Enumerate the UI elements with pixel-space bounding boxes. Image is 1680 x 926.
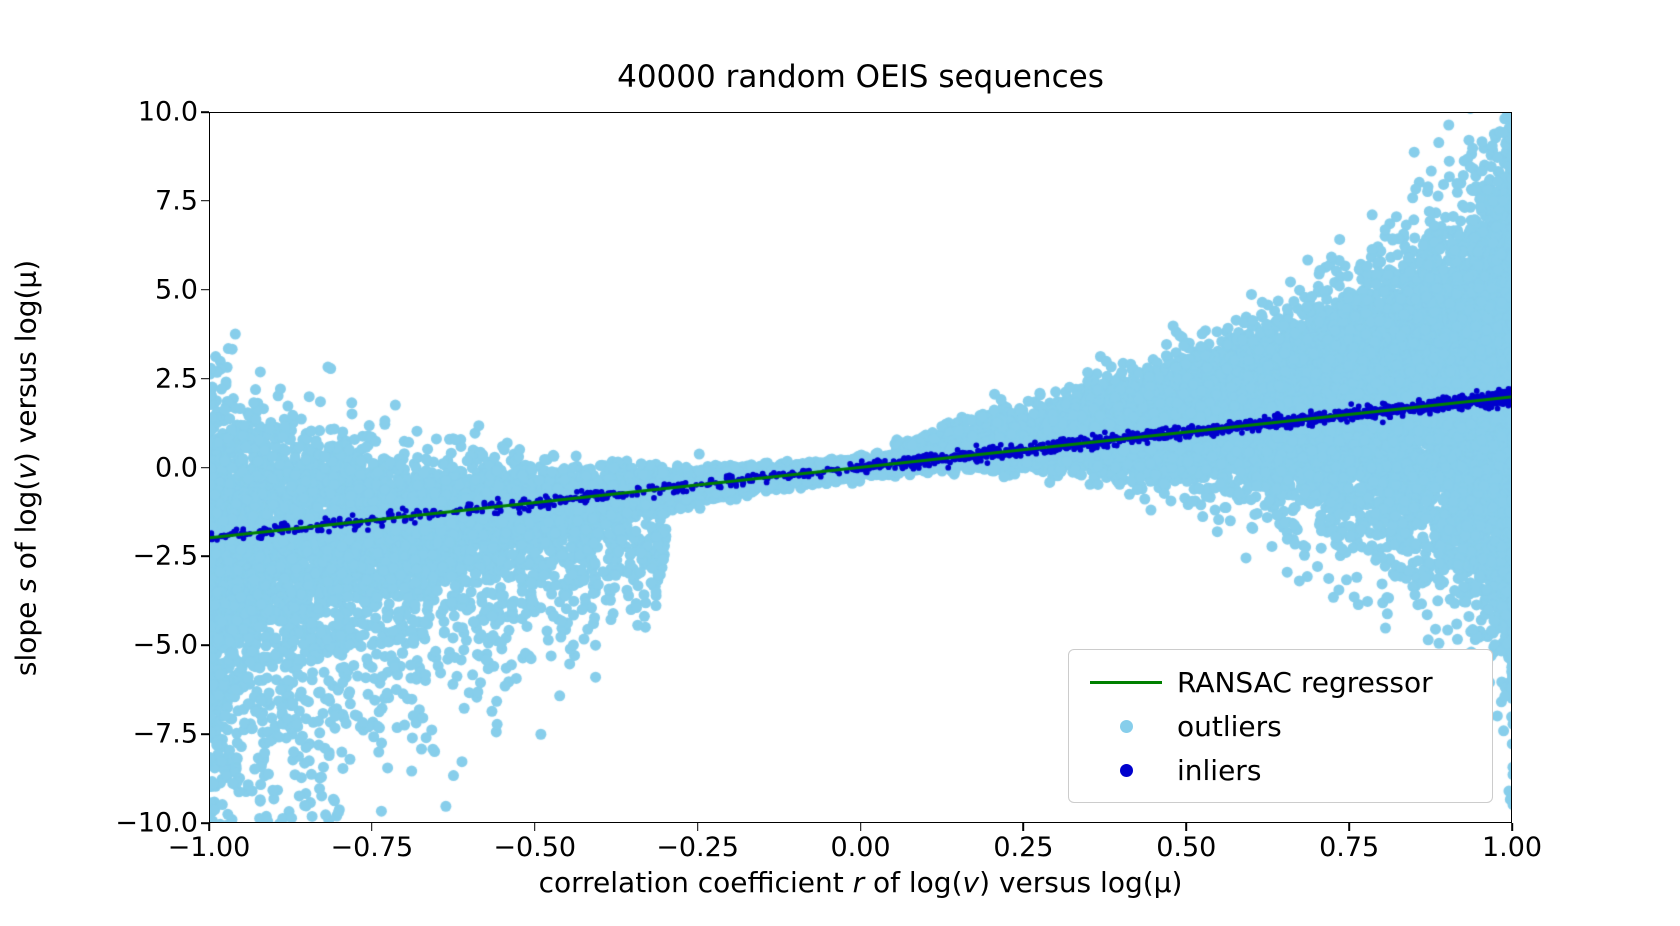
y-tick-mark xyxy=(201,644,209,646)
legend-dot-swatch xyxy=(1083,764,1169,777)
x-tick-mark xyxy=(697,823,699,831)
legend-dot-swatch xyxy=(1083,720,1169,733)
y-tick-mark xyxy=(201,111,209,113)
dot-marker-icon xyxy=(1120,720,1133,733)
legend-label: outliers xyxy=(1169,710,1282,743)
x-tick-mark xyxy=(1511,823,1513,831)
x-tick-mark xyxy=(1348,823,1350,831)
x-tick-mark xyxy=(1185,823,1187,831)
legend-line-swatch xyxy=(1083,681,1169,684)
matplotlib-figure: 40000 random OEIS sequences slope s of l… xyxy=(0,0,1680,926)
legend-label: inliers xyxy=(1169,754,1261,787)
legend-label: RANSAC regressor xyxy=(1169,666,1433,699)
x-axis-label-part-1: r xyxy=(853,866,865,899)
x-tick-label: −0.25 xyxy=(656,832,739,863)
y-tick-mark-group xyxy=(0,112,209,823)
y-tick-mark xyxy=(201,733,209,735)
chart-title: 40000 random OEIS sequences xyxy=(209,59,1512,95)
x-tick-mark xyxy=(534,823,536,831)
x-tick-label: 0.25 xyxy=(993,832,1053,863)
legend-entry[interactable]: RANSAC regressor xyxy=(1083,660,1478,704)
x-tick-label: 0.00 xyxy=(830,832,890,863)
chart-legend[interactable]: RANSAC regressoroutliersinliers xyxy=(1068,649,1493,803)
y-tick-mark xyxy=(201,556,209,558)
x-tick-mark xyxy=(371,823,373,831)
x-tick-label: −1.00 xyxy=(168,832,251,863)
y-tick-mark xyxy=(201,289,209,291)
x-axis-label-part-2: of log( xyxy=(864,866,962,899)
x-tick-label: 0.75 xyxy=(1319,832,1379,863)
x-axis-label-part-3: v xyxy=(963,866,980,899)
x-tick-mark xyxy=(1023,823,1025,831)
legend-entry[interactable]: outliers xyxy=(1083,704,1478,748)
x-tick-label: 1.00 xyxy=(1482,832,1542,863)
y-tick-mark xyxy=(201,378,209,380)
line-marker-icon xyxy=(1090,681,1162,684)
x-tick-label: 0.50 xyxy=(1156,832,1216,863)
legend-entry[interactable]: inliers xyxy=(1083,748,1478,792)
y-tick-mark xyxy=(201,467,209,469)
x-axis-label-part-4: ) versus log(μ) xyxy=(979,866,1182,899)
y-tick-mark xyxy=(201,200,209,202)
dot-marker-icon xyxy=(1120,764,1133,777)
x-tick-mark xyxy=(208,823,210,831)
x-tick-label: −0.75 xyxy=(331,832,414,863)
x-axis-label: correlation coefficient r of log(v) vers… xyxy=(209,866,1512,899)
x-tick-label: −0.50 xyxy=(493,832,576,863)
x-tick-mark xyxy=(860,823,862,831)
x-axis-label-part-0: correlation coefficient xyxy=(539,866,853,899)
